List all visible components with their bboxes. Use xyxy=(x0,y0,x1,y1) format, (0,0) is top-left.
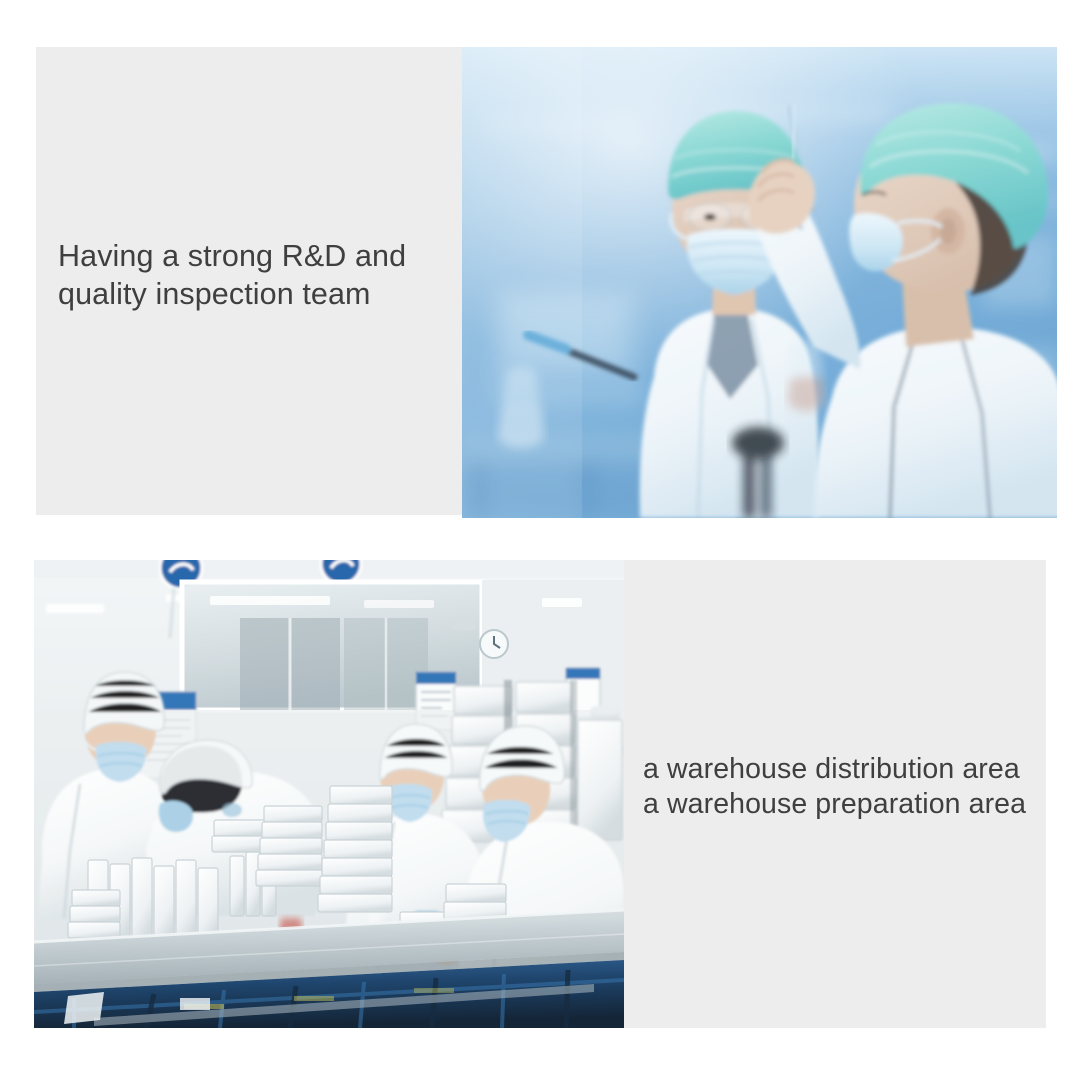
caption-panel-left: Having a strong R&D and quality inspecti… xyxy=(36,47,463,515)
lab-technicians-illustration xyxy=(462,47,1057,518)
photo-lab-technicians xyxy=(462,47,1057,518)
section-warehouse: a warehouse distribution area a warehous… xyxy=(0,558,1080,1028)
section-rnd-quality: Having a strong R&D and quality inspecti… xyxy=(0,47,1080,518)
photo-warehouse-packing xyxy=(34,560,624,1028)
caption-rnd-quality: Having a strong R&D and quality inspecti… xyxy=(58,237,458,313)
caption-panel-right: a warehouse distribution area a warehous… xyxy=(560,560,1046,1028)
page-root: Having a strong R&D and quality inspecti… xyxy=(0,0,1080,1080)
caption-warehouse: a warehouse distribution area a warehous… xyxy=(643,752,1063,822)
warehouse-packing-illustration xyxy=(34,560,624,1028)
